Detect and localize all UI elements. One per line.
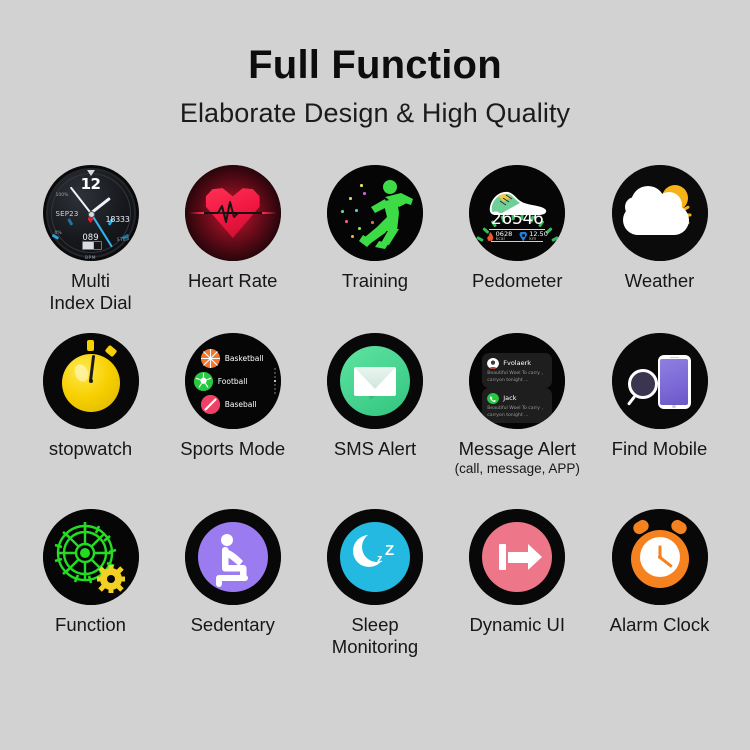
arrow-bar-icon [499,544,506,570]
sedentary-seated-person-icon [185,509,281,605]
sleep-moon-icon: z Z [327,509,423,605]
feature-label: Message Alert [459,438,576,460]
sports-item-basketball[interactable]: Basketball [201,349,264,368]
notification-card[interactable]: Jack Beautiful Woel To carry , carryon t… [482,388,552,423]
dynamic-ui-arrow-icon [469,509,565,605]
notification-preview: Beautiful Woel To carry , carryon tonigh… [487,371,547,384]
feature-label: Sports Mode [180,438,285,460]
sleep-z-small: z [377,553,383,565]
message-alert-icon: Fvolaerk Beautiful Woel To carry , carry… [469,333,565,429]
feature-label: Heart Rate [188,270,277,292]
basketball-icon [201,349,220,368]
feature-grid: 12 100% 0% SEP23 18333 STEP 089 BPM [0,165,750,669]
multi-index-dial-watchface-icon: 12 100% 0% SEP23 18333 STEP 089 BPM [43,165,139,261]
watchface-date: SEP23 [56,210,79,218]
find-mobile-icon [612,333,708,429]
notification-preview: Beautiful Woel To carry , carryon tonigh… [487,406,547,419]
feature-label: Function [55,614,126,636]
feature-sms-alert[interactable]: SMS Alert [309,333,442,460]
cloud-icon [623,205,689,235]
feature-label: Find Mobile [612,438,708,460]
sports-item-baseball[interactable]: Baseball [201,395,257,414]
weather-cloud-sun-icon [612,165,708,261]
stopwatch-icon [43,333,139,429]
watchface-steps-value: 18333 [106,215,130,224]
feature-find-mobile[interactable]: Find Mobile [593,333,726,460]
feature-label: Multi Index Dial [49,270,131,313]
pedometer-shoe-icon: 26546 0628 kcal [469,165,565,261]
location-pin-icon [519,232,527,242]
feature-dynamic-ui[interactable]: Dynamic UI [451,509,584,636]
contact-avatar [487,392,499,404]
feature-sublabel: (call, message, APP) [455,461,580,477]
feature-training[interactable]: Training [309,165,442,292]
feature-multi-index-dial[interactable]: 12 100% 0% SEP23 18333 STEP 089 BPM [24,165,157,313]
watchface-center-pin [88,211,95,218]
watchface-bpm-unit: BPM [85,256,96,261]
football-icon [194,372,213,391]
sms-envelope-icon [327,333,423,429]
watchface-percent-top: 100% [56,193,69,198]
feature-label: Alarm Clock [610,614,710,636]
sports-label: Basketball [225,354,264,363]
runner-silhouette-icon [327,165,423,261]
contact-avatar [487,357,499,369]
magnifier-icon [628,369,658,399]
page-title: Full Function [0,44,750,86]
function-gears-icon [43,509,139,605]
baseball-icon [201,395,220,414]
sports-label: Football [218,377,248,386]
feature-label: SMS Alert [334,438,416,460]
flame-icon [487,232,494,241]
notification-sender: Fvolaerk [503,359,531,367]
pedometer-steps-value: 26546 [469,209,565,229]
heart-rate-icon [185,165,281,261]
alarm-clock-icon [612,509,708,605]
training-runner-icon [327,165,423,261]
feature-row-3: Function [24,509,726,669]
notification-card[interactable]: Fvolaerk Beautiful Woel To carry , carry… [482,353,552,388]
feature-label: Sedentary [191,614,275,636]
sports-scroll-indicator[interactable] [274,366,276,396]
ecg-waveform-icon [204,200,262,226]
feature-label: Dynamic UI [469,614,565,636]
feature-label: Training [342,270,408,292]
feature-label: Pedometer [472,270,563,292]
feature-sedentary[interactable]: Sedentary [166,509,299,636]
phone-icon [658,355,691,409]
notification-sender: Jack [503,394,516,402]
sports-mode-icon: Basketball Football [185,333,281,429]
feature-sports-mode[interactable]: Basketball Football [166,333,299,460]
page-header: Full Function Elaborate Design & High Qu… [0,0,750,129]
watchface-battery-icon [82,241,102,250]
full-function-feature-page: Full Function Elaborate Design & High Qu… [0,0,750,750]
watchface-hour-marker: 12 [43,175,139,193]
arrow-head-icon [528,544,542,570]
feature-row-1: 12 100% 0% SEP23 18333 STEP 089 BPM [24,165,726,325]
feature-function[interactable]: Function [24,509,157,636]
feature-label: stopwatch [49,438,132,460]
feature-row-2: stopwatch Basketball [24,333,726,501]
sports-item-football[interactable]: Football [194,372,248,391]
page-subtitle: Elaborate Design & High Quality [0,98,750,129]
feature-weather[interactable]: Weather [593,165,726,292]
feature-stopwatch[interactable]: stopwatch [24,333,157,460]
feature-label: Weather [625,270,695,292]
feature-sleep-monitoring[interactable]: z Z Sleep Monitoring [309,509,442,657]
feature-alarm-clock[interactable]: Alarm Clock [593,509,726,636]
feature-label: Sleep Monitoring [332,614,418,657]
sleep-z-large: Z [385,542,394,559]
feature-heart-rate[interactable]: Heart Rate [166,165,299,292]
feature-pedometer[interactable]: 26546 0628 kcal [451,165,584,292]
feature-message-alert[interactable]: Fvolaerk Beautiful Woel To carry , carry… [451,333,584,476]
sports-label: Baseball [225,400,257,409]
